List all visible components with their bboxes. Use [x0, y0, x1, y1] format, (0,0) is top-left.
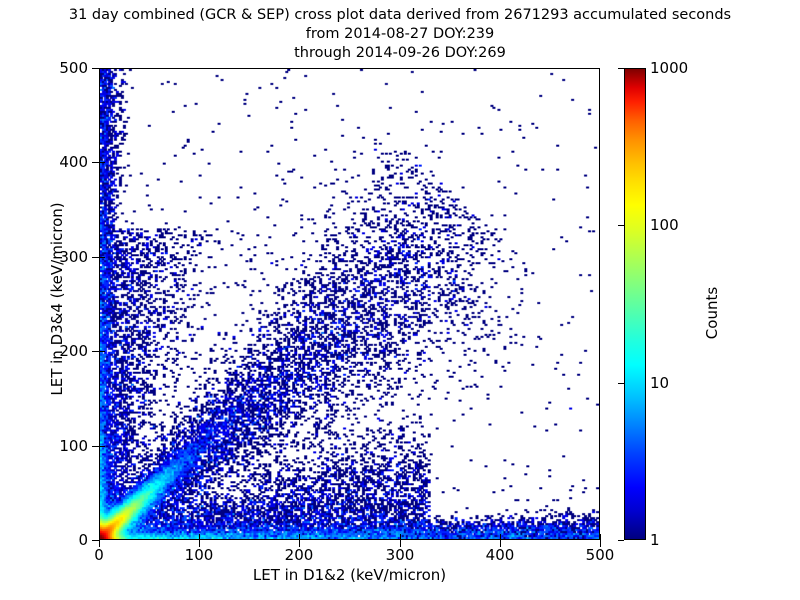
- x-ticklabel-0: 0: [79, 546, 119, 564]
- plot-area: [99, 68, 600, 540]
- colorbar-tick-100: [618, 225, 624, 226]
- y-axis-label: LET in D3&4 (keV/micron): [48, 179, 66, 419]
- x-tick-in-100: [199, 534, 200, 540]
- y-tick-0: [92, 540, 99, 541]
- y-tick-200: [92, 351, 99, 352]
- colorbar-tick-10: [618, 383, 624, 384]
- x-ticklabel-100: 100: [174, 546, 224, 564]
- x-axis-label: LET in D1&2 (keV/micron): [99, 566, 600, 584]
- colorbar-ticklabel-1: 1: [650, 531, 660, 549]
- colorbar-ticklabel-100: 100: [650, 216, 679, 234]
- y-tick-in-100: [99, 446, 105, 447]
- x-tick-in-400: [500, 534, 501, 540]
- y-tick-in-200: [99, 351, 105, 352]
- y-ticklabel-500: 500: [59, 59, 88, 77]
- scatter-heatmap: [100, 69, 599, 539]
- colorbar-tick-1000: [618, 68, 624, 69]
- x-tick-in-200: [299, 534, 300, 540]
- x-ticklabel-400: 400: [475, 546, 525, 564]
- y-tick-in-500: [99, 68, 105, 69]
- y-tick-in-300: [99, 257, 105, 258]
- y-tick-100: [92, 446, 99, 447]
- y-ticklabel-400: 400: [59, 153, 88, 171]
- y-tick-400: [92, 162, 99, 163]
- x-ticklabel-200: 200: [274, 546, 324, 564]
- y-tick-300: [92, 257, 99, 258]
- y-ticklabel-100: 100: [59, 437, 88, 455]
- colorbar: [624, 68, 646, 540]
- title-line-2: from 2014-08-27 DOY:239: [0, 25, 800, 44]
- colorbar-tick-1: [618, 540, 624, 541]
- colorbar-ticklabel-1000: 1000: [650, 59, 688, 77]
- colorbar-label: Counts: [703, 233, 721, 393]
- title-line-1: 31 day combined (GCR & SEP) cross plot d…: [0, 6, 800, 25]
- x-ticklabel-300: 300: [375, 546, 425, 564]
- figure-canvas: 31 day combined (GCR & SEP) cross plot d…: [0, 0, 800, 600]
- x-tick-in-300: [400, 534, 401, 540]
- colorbar-ticklabel-10: 10: [650, 374, 669, 392]
- x-ticklabel-500: 500: [575, 546, 625, 564]
- y-tick-in-400: [99, 162, 105, 163]
- chart-title: 31 day combined (GCR & SEP) cross plot d…: [0, 6, 800, 63]
- y-tick-500: [92, 68, 99, 69]
- x-tick-in-500: [600, 534, 601, 540]
